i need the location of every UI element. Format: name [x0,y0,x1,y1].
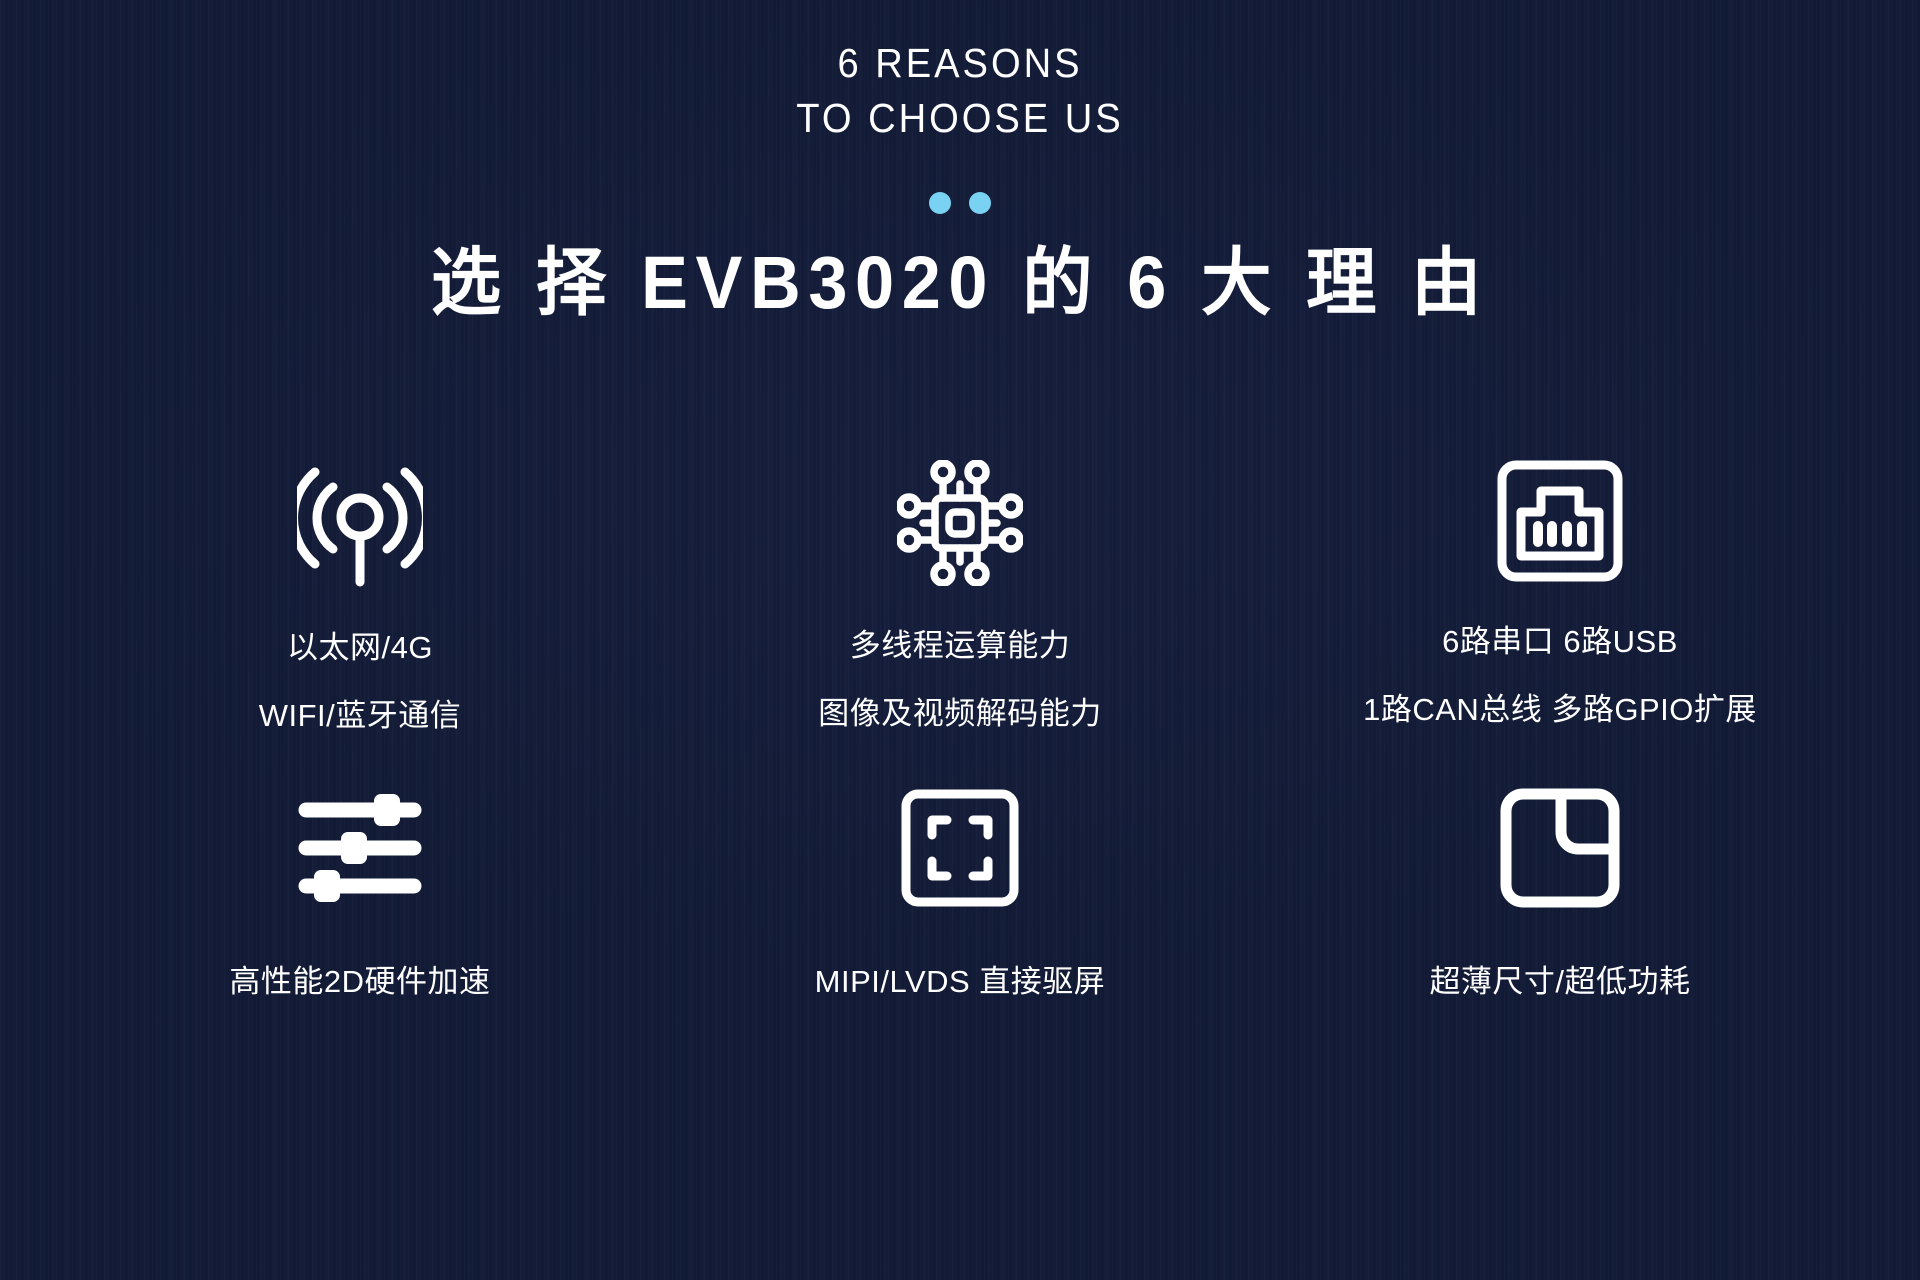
divider-dot-1 [929,192,951,214]
feature-caption: MIPI/LVDS 直接驱屏 [815,918,1106,997]
screen-frame-icon [900,778,1020,918]
feature-cell-form-factor: 超薄尺寸/超低功耗 [1260,778,1860,1033]
feature-line-2: WIFI/蓝牙通信 [259,700,462,731]
sliders-icon [296,778,424,918]
features-grid: 以太网/4G WIFI/蓝牙通信 [60,460,1860,1033]
ethernet-port-icon [1497,460,1623,582]
page-root: 6 REASONS TO CHOOSE US 选 择 EVB3020 的 6 大… [0,0,1920,1280]
feature-cell-2d-accel: 高性能2D硬件加速 [60,778,660,1033]
cpu-chip-icon [897,460,1023,586]
slim-form-factor-icon [1499,778,1621,918]
eyebrow-heading: 6 REASONS TO CHOOSE US [0,36,1920,145]
feature-cell-compute: 多线程运算能力 图像及视频解码能力 [660,460,1260,720]
feature-caption: 6路串口 6路USB 1路CAN总线 多路GPIO扩展 [1363,582,1757,725]
feature-caption: 多线程运算能力 图像及视频解码能力 [818,586,1102,729]
feature-cell-connectivity: 以太网/4G WIFI/蓝牙通信 [60,460,660,720]
feature-line-1: MIPI/LVDS 直接驱屏 [815,966,1106,997]
divider-dots [0,192,1920,214]
feature-line-1: 以太网/4G [259,632,462,663]
feature-caption: 超薄尺寸/超低功耗 [1429,918,1690,997]
feature-cell-display: MIPI/LVDS 直接驱屏 [660,778,1260,1033]
feature-caption: 高性能2D硬件加速 [229,918,490,997]
divider-dot-2 [969,192,991,214]
feature-line-2: 1路CAN总线 多路GPIO扩展 [1363,694,1757,725]
feature-caption: 以太网/4G WIFI/蓝牙通信 [259,588,462,731]
page-title: 选 择 EVB3020 的 6 大 理 由 [48,242,1872,323]
feature-line-1: 高性能2D硬件加速 [229,966,490,997]
feature-line-1: 6路串口 6路USB [1363,626,1757,657]
broadcast-signal-icon [297,460,423,588]
eyebrow-line-2: TO CHOOSE US [67,91,1853,146]
feature-line-1: 超薄尺寸/超低功耗 [1429,966,1690,997]
eyebrow-line-1: 6 REASONS [67,36,1853,91]
feature-line-2: 图像及视频解码能力 [818,698,1102,729]
feature-cell-io-ports: 6路串口 6路USB 1路CAN总线 多路GPIO扩展 [1260,460,1860,720]
feature-line-1: 多线程运算能力 [818,630,1102,661]
